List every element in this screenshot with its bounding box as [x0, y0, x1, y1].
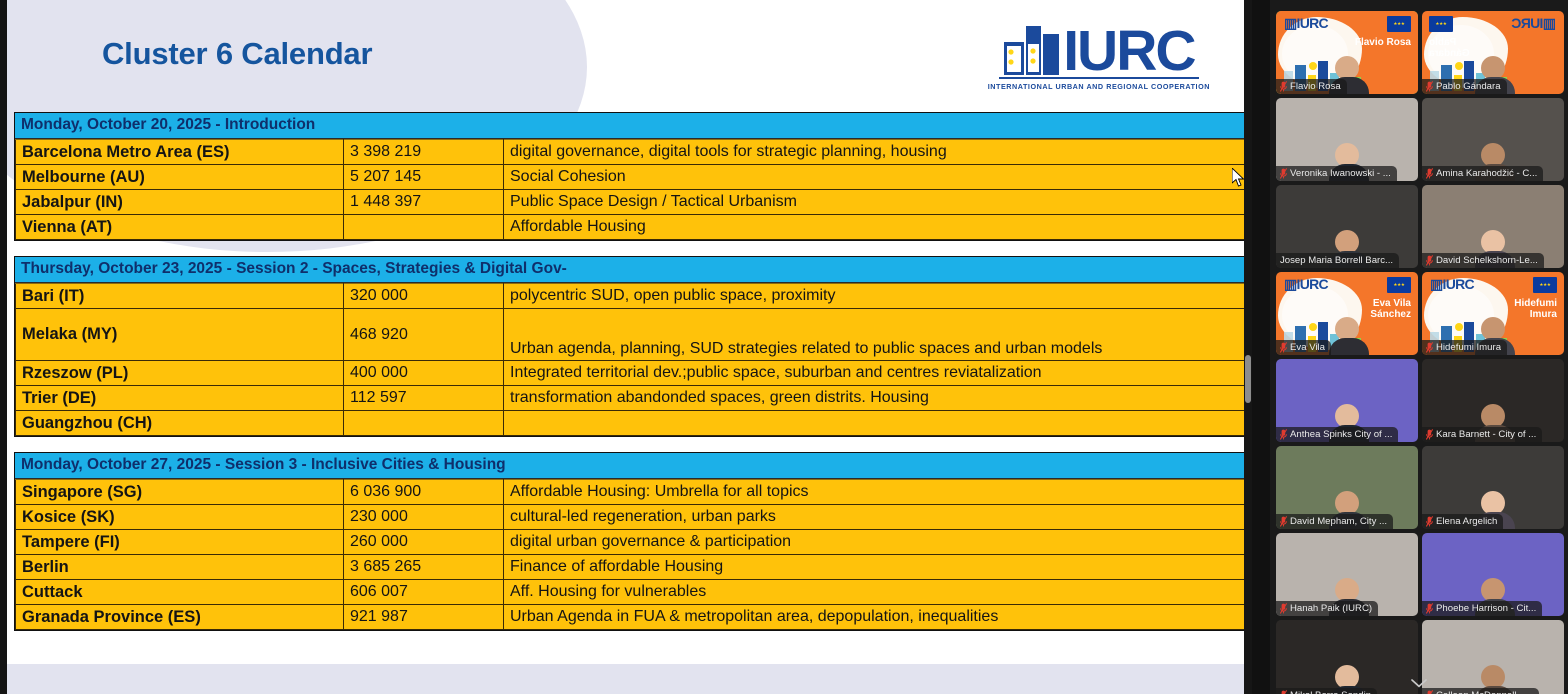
muted-mic-icon: [1280, 516, 1287, 527]
participant-nameplate: Kara Barnett - City of ...: [1422, 427, 1542, 442]
table-row: Tampere (FI)260 000digital urban governa…: [16, 530, 1246, 555]
participant-nameplate: Anthea Spinks City of ...: [1276, 427, 1398, 442]
muted-mic-icon: [1426, 168, 1433, 179]
meeting-screen-share-view: Cluster 6 Calendar IURC: [0, 0, 1568, 694]
topic: Social Cohesion: [504, 165, 1246, 190]
topic: Urban Agenda in FUA & metropolitan area,…: [504, 605, 1246, 630]
muted-mic-icon: [1426, 603, 1433, 614]
city: Kosice (SK): [16, 505, 344, 530]
population: [344, 215, 504, 240]
population: 112 597: [344, 386, 504, 411]
eu-flag-icon: [1429, 16, 1453, 32]
participant-nameplate: David Mepham, City ...: [1276, 514, 1393, 529]
table-row: Rzeszow (PL)400 000Integrated territoria…: [16, 361, 1246, 386]
table-row: Trier (DE)112 597transformation abandond…: [16, 386, 1246, 411]
city: Berlin: [16, 555, 344, 580]
participant-name: Elena Argelich: [1436, 516, 1497, 527]
shared-content-scrollbar[interactable]: [1244, 0, 1252, 694]
participant-name: Mikel Berra Sandin: [1290, 690, 1371, 694]
table-row: Barcelona Metro Area (ES)3 398 219digita…: [16, 140, 1246, 165]
participant-name: David Schelkshorn-Le...: [1436, 255, 1538, 266]
participant-tile[interactable]: ▥IURCEva Vila SánchezEva Vila: [1276, 272, 1418, 355]
muted-mic-icon: [1280, 603, 1287, 614]
calendar-section: Monday, October 20, 2025 - IntroductionB…: [14, 112, 1247, 241]
participant-tile[interactable]: Elena Argelich: [1422, 446, 1564, 529]
participant-nameplate: Hidefumi Imura: [1422, 340, 1507, 355]
city: Rzeszow (PL): [16, 361, 344, 386]
table-row: Melbourne (AU)5 207 145Social Cohesion: [16, 165, 1246, 190]
participant-nameplate: Elena Argelich: [1422, 514, 1503, 529]
participant-name: Amina Karahodžić - C...: [1436, 168, 1537, 179]
session-heading: Thursday, October 23, 2025 - Session 2 -…: [15, 257, 1246, 283]
topic: Finance of affordable Housing: [504, 555, 1246, 580]
muted-mic-icon: [1426, 516, 1433, 527]
participant-nameplate: Eva Vila: [1276, 340, 1331, 355]
participant-name: Josep Maria Borrell Barc...: [1280, 255, 1393, 266]
population: 3 398 219: [344, 140, 504, 165]
table-row: Vienna (AT)Affordable Housing: [16, 215, 1246, 240]
city: Cuttack: [16, 580, 344, 605]
calendar-section: Thursday, October 23, 2025 - Session 2 -…: [14, 256, 1247, 437]
topic: Aff. Housing for vulnerables: [504, 580, 1246, 605]
logo-wordmark: IURC: [1063, 27, 1194, 76]
muted-mic-icon: [1426, 81, 1433, 92]
participant-nameplate: Pablo Gándara: [1422, 79, 1507, 94]
participant-name: Hidefumi Imura: [1436, 342, 1501, 353]
session-rows: Barcelona Metro Area (ES)3 398 219digita…: [15, 139, 1246, 240]
page-title: Cluster 6 Calendar: [102, 36, 372, 72]
muted-mic-icon: [1280, 342, 1287, 353]
calendar-table: Monday, October 20, 2025 - IntroductionB…: [14, 112, 1247, 646]
participant-name: Pablo Gándara: [1436, 81, 1501, 92]
participant-name: Colleen McDonnell - ...: [1436, 690, 1533, 694]
participant-tiles: ▥IURCFlavio RosaFlavio Rosa▥IURCPablo Gá…: [1276, 11, 1564, 694]
population: 5 207 145: [344, 165, 504, 190]
topic: cultural-led regeneration, urban parks: [504, 505, 1246, 530]
topic: Public Space Design / Tactical Urbanism: [504, 190, 1246, 215]
participant-nameplate: Flavio Rosa: [1276, 79, 1347, 94]
participant-tile[interactable]: David Mepham, City ...: [1276, 446, 1418, 529]
participant-tile-row: Anthea Spinks City of ...Kara Barnett - …: [1276, 359, 1564, 442]
participant-tile-row: ▥IURCFlavio RosaFlavio Rosa▥IURCPablo Gá…: [1276, 11, 1564, 94]
topic: polycentric SUD, open public space, prox…: [504, 284, 1246, 309]
participant-tile[interactable]: Colleen McDonnell - ...: [1422, 620, 1564, 694]
decorative-bottom-band: [7, 664, 1250, 694]
participant-tile-row: ▥IURCEva Vila SánchezEva Vila▥IURCHidefu…: [1276, 272, 1564, 355]
table-row: Singapore (SG)6 036 900Affordable Housin…: [16, 480, 1246, 505]
table-row: Granada Province (ES)921 987Urban Agenda…: [16, 605, 1246, 630]
table-row: Jabalpur (IN)1 448 397Public Space Desig…: [16, 190, 1246, 215]
muted-mic-icon: [1280, 81, 1287, 92]
topic: Affordable Housing: Umbrella for all top…: [504, 480, 1246, 505]
participant-tile[interactable]: David Schelkshorn-Le...: [1422, 185, 1564, 268]
participant-tile[interactable]: ▥IURCPablo GándaraPablo Gándara: [1422, 11, 1564, 94]
eu-flag-icon: [1387, 277, 1411, 293]
population: 230 000: [344, 505, 504, 530]
topic: transformation abandonded spaces, green …: [504, 386, 1246, 411]
mouse-cursor: [1232, 168, 1246, 188]
city: Singapore (SG): [16, 480, 344, 505]
topic: Integrated territorial dev.;public space…: [504, 361, 1246, 386]
iurc-mini-logo: ▥IURC: [1430, 276, 1474, 293]
participant-filmstrip[interactable]: ▥IURCFlavio RosaFlavio Rosa▥IURCPablo Gá…: [1270, 0, 1568, 694]
participant-nameplate: Mikel Berra Sandin: [1276, 688, 1377, 694]
participant-tile[interactable]: Veronika Iwanowski - ...: [1276, 98, 1418, 181]
participant-name: Flavio Rosa: [1290, 81, 1341, 92]
population: 400 000: [344, 361, 504, 386]
participant-tile[interactable]: Anthea Spinks City of ...: [1276, 359, 1418, 442]
topic: digital urban governance & participation: [504, 530, 1246, 555]
table-row: Cuttack606 007Aff. Housing for vulnerabl…: [16, 580, 1246, 605]
topic: Urban agenda, planning, SUD strategies r…: [504, 309, 1246, 361]
city: Melaka (MY): [16, 309, 344, 361]
population: 606 007: [344, 580, 504, 605]
participant-tile[interactable]: ▥IURCHidefumi ImuraHidefumi Imura: [1422, 272, 1564, 355]
session-heading: Monday, October 20, 2025 - Introduction: [15, 113, 1246, 139]
session-heading: Monday, October 27, 2025 - Session 3 - I…: [15, 453, 1246, 479]
participant-tile-row: Josep Maria Borrell Barc...David Schelks…: [1276, 185, 1564, 268]
participant-name: Anthea Spinks City of ...: [1290, 429, 1392, 440]
logo-tagline: INTERNATIONAL URBAN AND REGIONAL COOPERA…: [988, 82, 1210, 91]
table-row: Melaka (MY)468 920Urban agenda, planning…: [16, 309, 1246, 361]
iurc-mini-logo: ▥IURC: [1284, 276, 1328, 293]
topic: Affordable Housing: [504, 215, 1246, 240]
participant-nameplate: Phoebe Harrison - Cit...: [1422, 601, 1542, 616]
population: 3 685 265: [344, 555, 504, 580]
participant-tile[interactable]: ▥IURCFlavio RosaFlavio Rosa: [1276, 11, 1418, 94]
participant-tile[interactable]: Phoebe Harrison - Cit...: [1422, 533, 1564, 616]
population: [344, 411, 504, 436]
city: Granada Province (ES): [16, 605, 344, 630]
participant-nameplate: Josep Maria Borrell Barc...: [1276, 253, 1399, 268]
muted-mic-icon: [1280, 429, 1287, 440]
topic: digital governance, digital tools for st…: [504, 140, 1246, 165]
chevron-down-icon[interactable]: [1410, 678, 1428, 689]
scrollbar-thumb[interactable]: [1245, 355, 1251, 403]
participant-name: Kara Barnett - City of ...: [1436, 429, 1536, 440]
muted-mic-icon: [1426, 342, 1433, 353]
logo-rule: [999, 77, 1199, 79]
table-row: Kosice (SK)230 000cultural-led regenerat…: [16, 505, 1246, 530]
table-row: Guangzhou (CH): [16, 411, 1246, 436]
participant-tile-row: Hanah Paik (IURC)Phoebe Harrison - Cit..…: [1276, 533, 1564, 616]
iurc-mini-logo: ▥IURC: [1284, 15, 1328, 32]
eu-flag-icon: [1533, 277, 1557, 293]
participant-nameplate: Amina Karahodžić - C...: [1422, 166, 1543, 181]
building-icon: [1003, 22, 1061, 76]
participant-tile[interactable]: Hanah Paik (IURC): [1276, 533, 1418, 616]
participant-nameplate: Hanah Paik (IURC): [1276, 601, 1378, 616]
iurc-logo: IURC INTERNATIONAL URBAN AND REGIONAL CO…: [988, 22, 1210, 91]
city: Bari (IT): [16, 284, 344, 309]
left-gutter: [0, 0, 7, 694]
population: 1 448 397: [344, 190, 504, 215]
shared-slide: Cluster 6 Calendar IURC: [7, 0, 1250, 694]
participant-tile-row: David Mepham, City ...Elena Argelich: [1276, 446, 1564, 529]
population: 320 000: [344, 284, 504, 309]
muted-mic-icon: [1280, 690, 1287, 694]
participant-tile[interactable]: Kara Barnett - City of ...: [1422, 359, 1564, 442]
table-row: Berlin3 685 265Finance of affordable Hou…: [16, 555, 1246, 580]
virtual-bg-name: Flavio Rosa: [1355, 37, 1411, 48]
population: 468 920: [344, 309, 504, 361]
city: Melbourne (AU): [16, 165, 344, 190]
population: 260 000: [344, 530, 504, 555]
participant-name: Hanah Paik (IURC): [1290, 603, 1372, 614]
participant-tile[interactable]: Amina Karahodžić - C...: [1422, 98, 1564, 181]
participant-tile[interactable]: Josep Maria Borrell Barc...: [1276, 185, 1418, 268]
participant-video: [1329, 317, 1365, 355]
city: Trier (DE): [16, 386, 344, 411]
topic: [504, 411, 1246, 436]
eu-flag-icon: [1387, 16, 1411, 32]
city: Vienna (AT): [16, 215, 344, 240]
session-rows: Bari (IT)320 000polycentric SUD, open pu…: [15, 283, 1246, 436]
slide-header: Cluster 6 Calendar IURC: [7, 0, 1250, 110]
iurc-mini-logo: ▥IURC: [1512, 15, 1556, 32]
population: 921 987: [344, 605, 504, 630]
population: 6 036 900: [344, 480, 504, 505]
participant-name: Phoebe Harrison - Cit...: [1436, 603, 1536, 614]
city: Barcelona Metro Area (ES): [16, 140, 344, 165]
participant-nameplate: Veronika Iwanowski - ...: [1276, 166, 1397, 181]
participant-nameplate: David Schelkshorn-Le...: [1422, 253, 1544, 268]
participant-tile[interactable]: Mikel Berra Sandin: [1276, 620, 1418, 694]
city: Guangzhou (CH): [16, 411, 344, 436]
calendar-section: Monday, October 27, 2025 - Session 3 - I…: [14, 452, 1247, 631]
city: Jabalpur (IN): [16, 190, 344, 215]
muted-mic-icon: [1426, 429, 1433, 440]
session-rows: Singapore (SG)6 036 900Affordable Housin…: [15, 479, 1246, 630]
participant-name: Veronika Iwanowski - ...: [1290, 168, 1391, 179]
muted-mic-icon: [1426, 690, 1433, 694]
muted-mic-icon: [1426, 255, 1433, 266]
participant-name: David Mepham, City ...: [1290, 516, 1387, 527]
muted-mic-icon: [1280, 168, 1287, 179]
participant-name: Eva Vila: [1290, 342, 1325, 353]
participant-tile-row: Veronika Iwanowski - ...Amina Karahodžić…: [1276, 98, 1564, 181]
table-row: Bari (IT)320 000polycentric SUD, open pu…: [16, 284, 1246, 309]
participant-nameplate: Colleen McDonnell - ...: [1422, 688, 1539, 694]
city: Tampere (FI): [16, 530, 344, 555]
